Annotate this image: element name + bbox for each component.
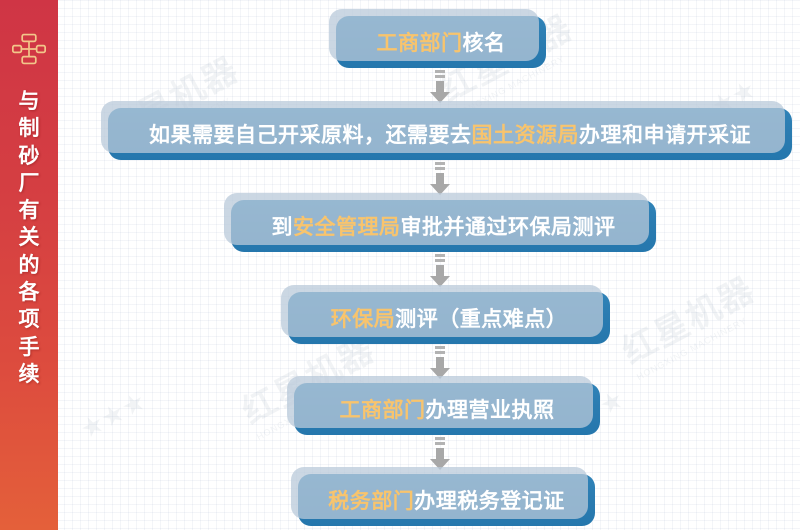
flow-step-4[interactable]: 环保局测评（重点难点） bbox=[288, 292, 610, 344]
arrow-down-icon bbox=[429, 162, 451, 196]
flow-step-2-text: 办理和申请开采证 bbox=[579, 119, 751, 149]
flow-step-1[interactable]: 工商部门核名 bbox=[336, 16, 546, 68]
sidebar-banner: 与制砂厂有关的各项手续 bbox=[0, 0, 58, 530]
flow-step-2-lead: 如果需要自己开采原料，还需要去 bbox=[149, 119, 472, 149]
arrow-down-icon bbox=[429, 70, 451, 104]
flow-step-2-highlight: 国土资源局 bbox=[472, 119, 580, 149]
flow-step-3-highlight: 安全管理局 bbox=[293, 211, 401, 241]
flow-step-5-highlight: 工商部门 bbox=[340, 394, 426, 424]
flow-step-2[interactable]: 如果需要自己开采原料，还需要去国土资源局办理和申请开采证 bbox=[108, 108, 792, 160]
flow-step-3-text: 审批并通过环保局测评 bbox=[401, 211, 616, 241]
flow-step-1-highlight: 工商部门 bbox=[377, 27, 463, 57]
flow-step-5-text: 办理营业执照 bbox=[426, 394, 555, 424]
org-chart-icon bbox=[12, 32, 46, 66]
sidebar-title: 与制砂厂有关的各项手续 bbox=[14, 88, 44, 388]
flowchart-canvas: 红星机器 HONGXING MACHINERY 红星机器 HONGXING MA… bbox=[0, 0, 800, 530]
flow-step-3-lead: 到 bbox=[272, 211, 294, 241]
flow-step-4-highlight: 环保局 bbox=[331, 303, 396, 333]
flow-step-5[interactable]: 工商部门办理营业执照 bbox=[294, 383, 600, 435]
flow-step-6-text: 办理税务登记证 bbox=[414, 485, 565, 515]
flow-step-6[interactable]: 税务部门办理税务登记证 bbox=[298, 474, 595, 526]
flow-step-6-highlight: 税务部门 bbox=[328, 485, 414, 515]
flow-step-1-text: 核名 bbox=[463, 27, 506, 57]
arrow-down-icon bbox=[429, 437, 451, 471]
arrow-down-icon bbox=[429, 254, 451, 288]
flow-step-3[interactable]: 到安全管理局审批并通过环保局测评 bbox=[231, 200, 656, 252]
arrow-down-icon bbox=[429, 346, 451, 380]
flow-steps-container: 工商部门核名 如果需要自己开采原料，还需要去国土资源局办理和申请开采证 到安全管… bbox=[0, 0, 800, 530]
flow-step-4-text: 测评（重点难点） bbox=[395, 303, 567, 333]
